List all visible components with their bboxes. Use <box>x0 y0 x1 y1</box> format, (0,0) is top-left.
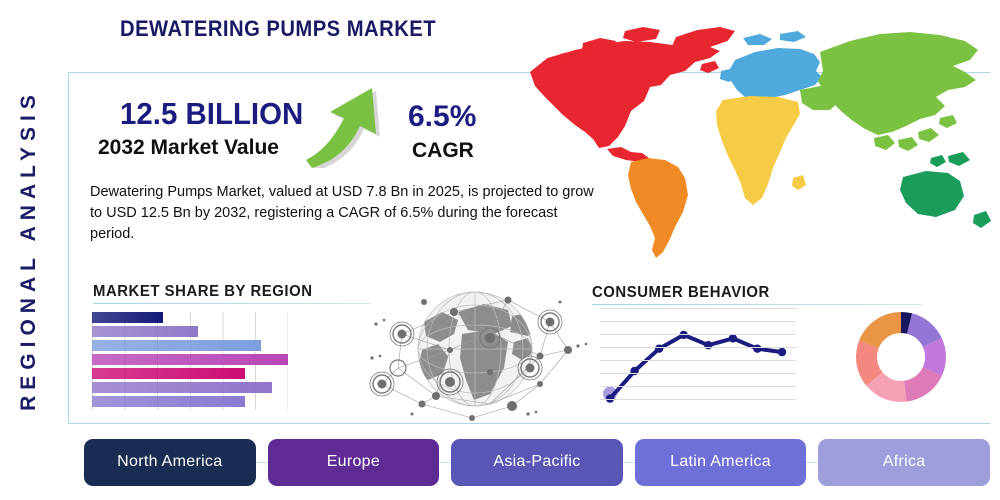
regional-analysis-side-label: REGIONAL ANALYSIS <box>0 0 58 500</box>
bar-chart-row <box>92 368 288 382</box>
global-network-globe-icon <box>362 272 592 427</box>
consumer-behavior-donut-chart <box>852 308 950 406</box>
bar-chart-row <box>92 312 288 326</box>
region-tab-africa[interactable]: Africa <box>818 439 990 486</box>
consumer-behavior-heading: CONSUMER BEHAVIOR <box>592 284 770 302</box>
market-share-bar-chart <box>92 312 288 410</box>
upward-arrow-icon <box>300 82 390 168</box>
bar-chart-bar <box>92 382 272 393</box>
cagr-caption: CAGR <box>412 139 474 163</box>
bar-chart-bar <box>92 396 245 407</box>
region-tabs[interactable]: North America Europe Asia-Pacific Latin … <box>84 436 990 488</box>
region-tab-north-america[interactable]: North America <box>84 439 256 486</box>
region-tab-label: Latin America <box>670 453 771 471</box>
bar-chart-bar <box>92 326 198 337</box>
line-chart-gridlines <box>600 308 796 412</box>
cagr-value: 6.5% <box>408 100 476 134</box>
market-share-heading: MARKET SHARE BY REGION <box>93 283 313 301</box>
bar-chart-series <box>92 312 288 410</box>
donut-segment <box>859 312 901 348</box>
market-value-caption: 2032 Market Value <box>98 136 279 160</box>
bar-chart-row <box>92 340 288 354</box>
side-label-text: REGIONAL ANALYSIS <box>17 89 41 411</box>
bar-chart-bar <box>92 368 245 379</box>
region-tab-asia-pacific[interactable]: Asia-Pacific <box>451 439 623 486</box>
market-share-heading-rule <box>93 303 371 304</box>
region-tab-label: Africa <box>883 453 926 471</box>
region-tab-label: Asia-Pacific <box>493 453 580 471</box>
bar-chart-row <box>92 326 288 340</box>
region-tab-label: Europe <box>327 453 380 471</box>
page-title: DEWATERING PUMPS MARKET <box>120 16 436 42</box>
consumer-behavior-heading-rule <box>592 304 922 305</box>
bar-chart-row <box>92 382 288 396</box>
bar-chart-bar <box>92 312 163 323</box>
bar-chart-bar <box>92 340 261 351</box>
bar-chart-row <box>92 396 288 410</box>
market-value: 12.5 BILLION <box>120 96 303 132</box>
region-tab-latin-america[interactable]: Latin America <box>635 439 807 486</box>
bar-chart-bar <box>92 354 288 365</box>
world-map-icon <box>500 12 1000 262</box>
consumer-behavior-line-chart <box>600 308 796 412</box>
region-tab-europe[interactable]: Europe <box>268 439 440 486</box>
region-tab-label: North America <box>117 453 222 471</box>
bar-chart-row <box>92 354 288 368</box>
